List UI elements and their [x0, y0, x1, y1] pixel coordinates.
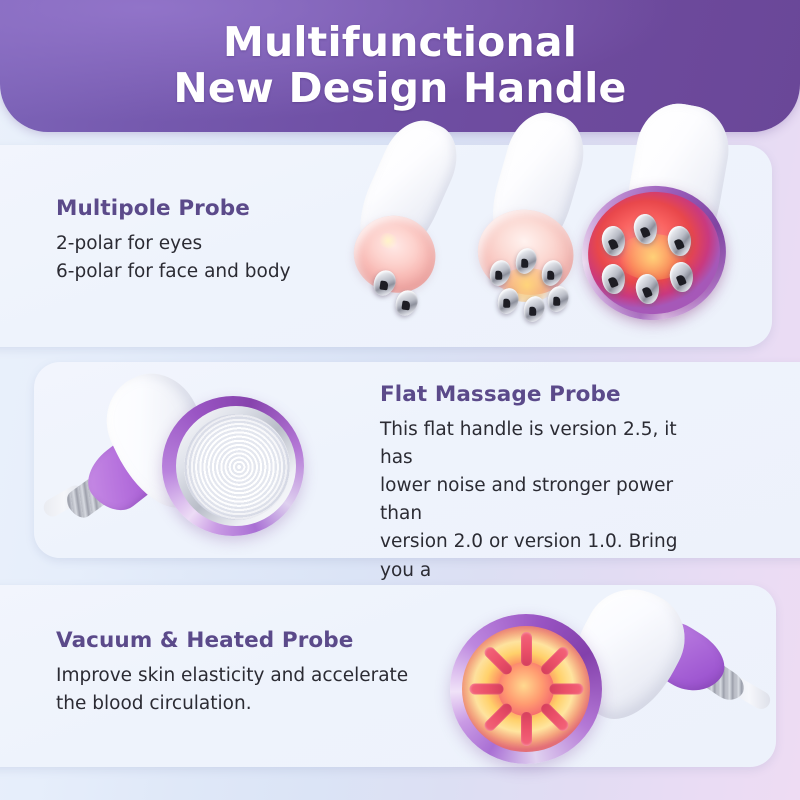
- flat-massage-probe-text-block: Flat Massage Probe This flat handle is v…: [380, 382, 710, 613]
- vacuum-slot-icon: [469, 684, 503, 695]
- vacuum-heated-probe-illustration: [458, 592, 778, 772]
- vacuum-slot-icon: [482, 701, 514, 733]
- flat-desc-line-1: This flat handle is version 2.5, it has: [380, 416, 710, 472]
- vacuum-heated-probe-description: Improve skin elasticity and accelerate t…: [56, 662, 408, 718]
- probe-face-heated: [462, 626, 590, 752]
- multipole-probe-description: 2-polar for eyes 6-polar for face and bo…: [56, 230, 291, 286]
- vacuum-heated-probe-text-block: Vacuum & Heated Probe Improve skin elast…: [56, 628, 408, 718]
- flat-massage-probe-title: Flat Massage Probe: [380, 382, 710, 407]
- header-title-line-1: Multifunctional: [223, 20, 577, 66]
- vacuum-slot-icon: [538, 645, 570, 677]
- flat-desc-line-3: version 2.0 or version 1.0. Bring you a: [380, 528, 710, 584]
- electrode-icon: [520, 294, 547, 325]
- vacuum-heated-probe-title: Vacuum & Heated Probe: [56, 628, 408, 653]
- vacuum-slot-icon: [538, 701, 570, 733]
- multipole-probe-text-block: Multipole Probe 2-polar for eyes 6-polar…: [56, 196, 291, 286]
- flat-desc-line-2: lower noise and stronger power than: [380, 472, 710, 528]
- vacuum-slot-icon: [521, 632, 532, 666]
- flat-massage-probe-description: This flat handle is version 2.5, it has …: [380, 416, 710, 613]
- flat-massage-probe-illustration: [44, 368, 374, 558]
- probe-face-concentric: [184, 414, 290, 520]
- vacuum-slot-icon: [482, 645, 514, 677]
- multipole-desc-line-2: 6-polar for face and body: [56, 258, 291, 286]
- vacuum-desc-line-2: the blood circulation.: [56, 690, 408, 718]
- header-title-line-2: New Design Handle: [173, 66, 626, 112]
- multipole-desc-line-1: 2-polar for eyes: [56, 230, 291, 258]
- vacuum-desc-line-1: Improve skin elasticity and accelerate: [56, 662, 408, 690]
- multipole-probe-title: Multipole Probe: [56, 196, 291, 221]
- vacuum-slot-icon: [521, 712, 532, 746]
- vacuum-slot-icon: [549, 684, 583, 695]
- multipole-probe-illustration: [330, 148, 780, 348]
